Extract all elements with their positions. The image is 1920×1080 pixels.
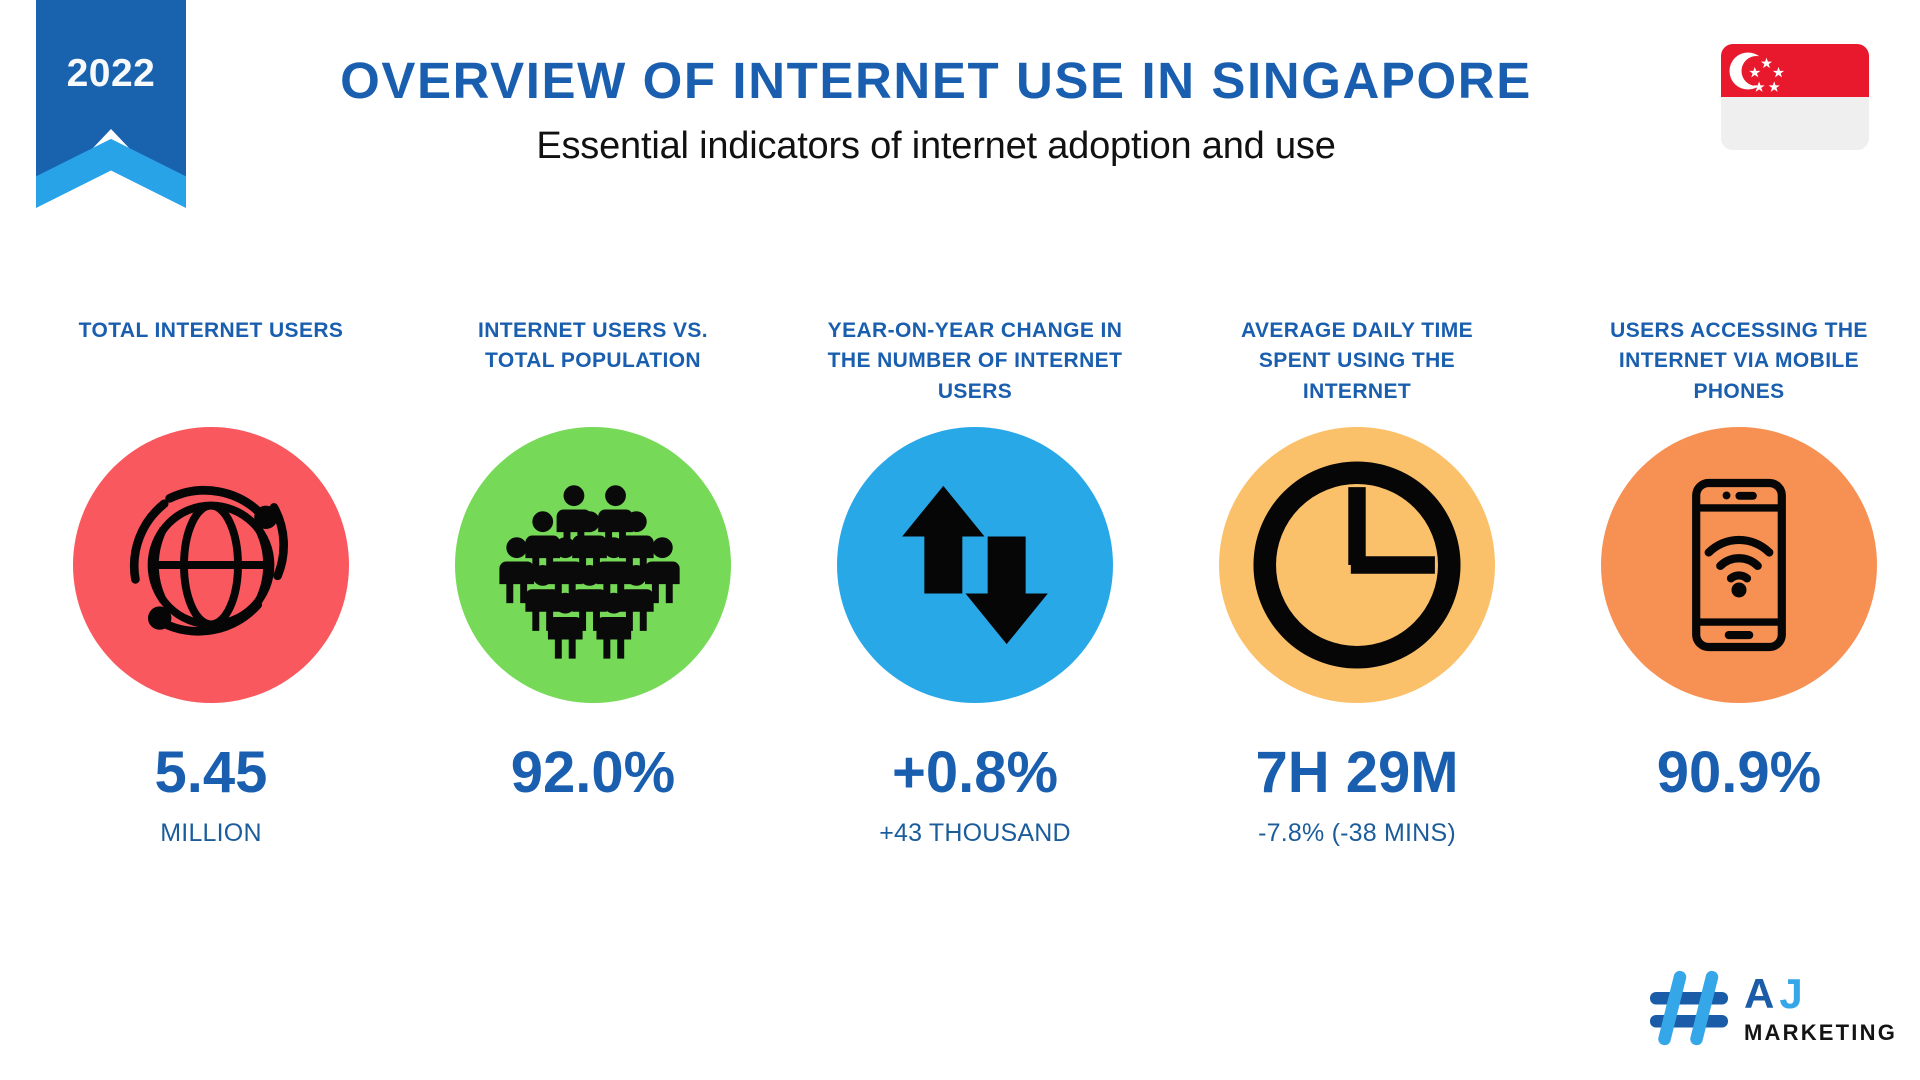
brand-text: AJ MARKETING bbox=[1744, 973, 1897, 1044]
stat-label: YEAR-ON-YEAR CHANGE IN THE NUMBER OF INT… bbox=[824, 316, 1126, 412]
infographic-page: 2022 OVERVIEW OF INTERNET USE IN SINGAPO… bbox=[0, 0, 1920, 1080]
stat-internet-users-vs-population: INTERNET USERS VS. TOTAL POPULATION bbox=[442, 316, 744, 847]
brand-letter-a: A bbox=[1744, 970, 1779, 1017]
ribbon-year-label: 2022 bbox=[36, 52, 186, 96]
stats-row: TOTAL INTERNET USERS bbox=[60, 316, 1890, 847]
brand-logo: AJ MARKETING bbox=[1648, 958, 1896, 1058]
up-down-arrows-icon bbox=[837, 427, 1113, 703]
stat-icon-wrap bbox=[1218, 426, 1496, 704]
brand-aj: AJ bbox=[1744, 973, 1897, 1015]
stat-subvalue: MILLION bbox=[160, 821, 261, 847]
up-down-arrows-icon-glyph bbox=[880, 470, 1070, 660]
header: OVERVIEW OF INTERNET USE IN SINGAPORE Es… bbox=[186, 52, 1686, 169]
stat-label: INTERNET USERS VS. TOTAL POPULATION bbox=[442, 316, 744, 412]
mobile-phone-wifi-icon bbox=[1601, 427, 1877, 703]
page-title: OVERVIEW OF INTERNET USE IN SINGAPORE bbox=[186, 52, 1686, 109]
crowd-people-icon bbox=[455, 427, 731, 703]
stat-label: TOTAL INTERNET USERS bbox=[79, 316, 344, 412]
crowd-people-icon-glyph bbox=[489, 461, 697, 669]
stat-label: AVERAGE DAILY TIME SPENT USING THE INTER… bbox=[1206, 316, 1508, 412]
flag-emblem bbox=[1721, 44, 1869, 150]
globe-icon bbox=[73, 427, 349, 703]
page-subtitle: Essential indicators of internet adoptio… bbox=[186, 125, 1686, 169]
stat-mobile-access: USERS ACCESSING THE INTERNET VIA MOBILE … bbox=[1588, 316, 1890, 847]
stat-subvalue: -7.8% (-38 MINS) bbox=[1258, 821, 1456, 847]
stat-value: 5.45 bbox=[155, 744, 268, 802]
stat-average-daily-time: AVERAGE DAILY TIME SPENT USING THE INTER… bbox=[1206, 316, 1508, 847]
stat-icon-wrap bbox=[72, 426, 350, 704]
mobile-phone-wifi-icon-glyph bbox=[1632, 458, 1846, 672]
brand-letter-j: J bbox=[1779, 970, 1807, 1017]
clock-icon-glyph bbox=[1234, 442, 1480, 688]
hash-icon bbox=[1648, 968, 1730, 1048]
brand-marketing-label: MARKETING bbox=[1744, 1022, 1897, 1044]
stat-value: 7H 29M bbox=[1255, 744, 1458, 802]
stat-value: 92.0% bbox=[511, 744, 675, 802]
stat-yoy-change: YEAR-ON-YEAR CHANGE IN THE NUMBER OF INT… bbox=[824, 316, 1126, 847]
year-ribbon: 2022 bbox=[36, 0, 186, 208]
stat-subvalue: +43 THOUSAND bbox=[879, 821, 1071, 847]
stat-value: +0.8% bbox=[892, 744, 1058, 802]
stat-label: USERS ACCESSING THE INTERNET VIA MOBILE … bbox=[1588, 316, 1890, 412]
stat-icon-wrap bbox=[454, 426, 732, 704]
clock-icon bbox=[1219, 427, 1495, 703]
stat-icon-wrap bbox=[836, 426, 1114, 704]
stat-value: 90.9% bbox=[1657, 744, 1821, 802]
stat-total-internet-users: TOTAL INTERNET USERS bbox=[60, 316, 362, 847]
globe-icon-glyph bbox=[103, 457, 319, 673]
stat-icon-wrap bbox=[1600, 426, 1878, 704]
singapore-flag-icon bbox=[1721, 44, 1869, 150]
